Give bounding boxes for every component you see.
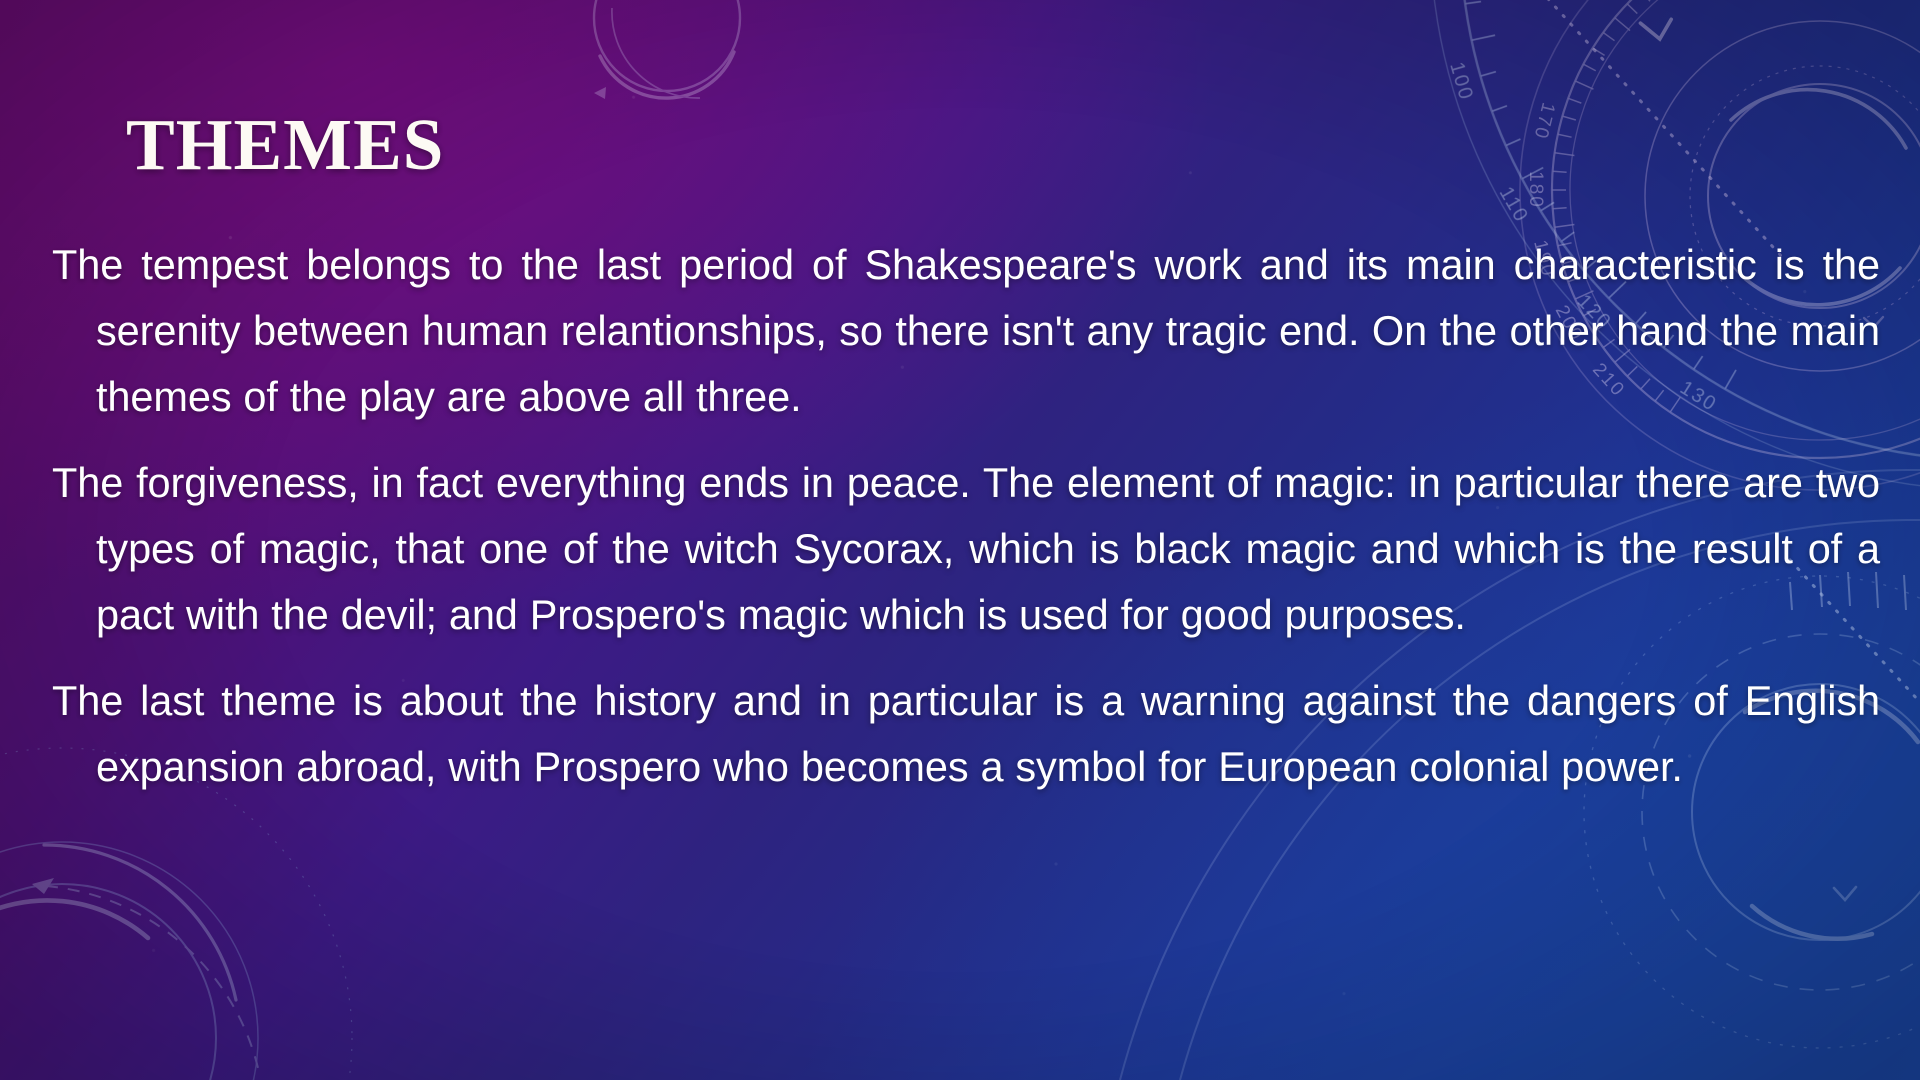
- page-title: THEMES: [126, 107, 444, 184]
- body-paragraph-3: The last theme is about the history and …: [52, 668, 1880, 800]
- body-paragraph-2: The forgiveness, in fact everything ends…: [52, 450, 1880, 648]
- slide-content: THEMES The tempest belongs to the last p…: [0, 0, 1920, 1080]
- presentation-slide: 210 200 190 180 170: [0, 0, 1920, 1080]
- body-paragraph-1: The tempest belongs to the last period o…: [52, 232, 1880, 430]
- slide-body: The tempest belongs to the last period o…: [52, 232, 1880, 800]
